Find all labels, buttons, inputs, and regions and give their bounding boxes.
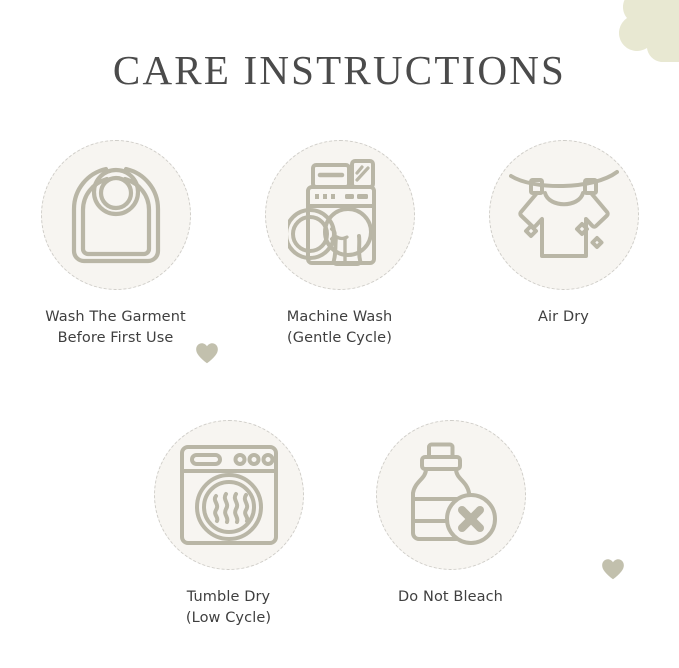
care-item-air-dry[interactable]: Air Dry	[488, 140, 640, 349]
washing-machine-icon	[288, 159, 392, 271]
care-item-label: Do Not Bleach	[356, 587, 546, 608]
care-item-wash-before-first-use[interactable]: Wash The Garment Before First Use	[40, 140, 192, 349]
icon-circle	[154, 420, 304, 570]
no-bleach-bottle-icon	[401, 441, 501, 549]
care-item-label: Wash The Garment Before First Use	[21, 307, 211, 349]
care-item-label: Tumble Dry (Low Cycle)	[134, 587, 324, 629]
care-item-machine-wash[interactable]: Machine Wash (Gentle Cycle)	[264, 140, 416, 349]
icon-circle	[376, 420, 526, 570]
clothesline-shirt-icon	[509, 160, 619, 270]
care-row-top: Wash The Garment Before First Use	[0, 140, 679, 349]
care-instructions-page: CARE INSTRUCTIONS Wash The Garment	[0, 0, 679, 668]
page-title: CARE INSTRUCTIONS	[0, 46, 679, 94]
icon-circle	[41, 140, 191, 290]
care-item-label: Machine Wash (Gentle Cycle)	[245, 307, 435, 349]
tumble-dryer-icon	[176, 442, 282, 548]
care-row-bottom: Tumble Dry (Low Cycle)	[0, 420, 679, 629]
baby-bib-icon	[64, 159, 168, 271]
icon-circle	[265, 140, 415, 290]
icon-circle	[489, 140, 639, 290]
care-item-tumble-dry[interactable]: Tumble Dry (Low Cycle)	[153, 420, 305, 629]
care-item-label: Air Dry	[469, 307, 659, 328]
care-item-do-not-bleach[interactable]: Do Not Bleach	[375, 420, 527, 629]
